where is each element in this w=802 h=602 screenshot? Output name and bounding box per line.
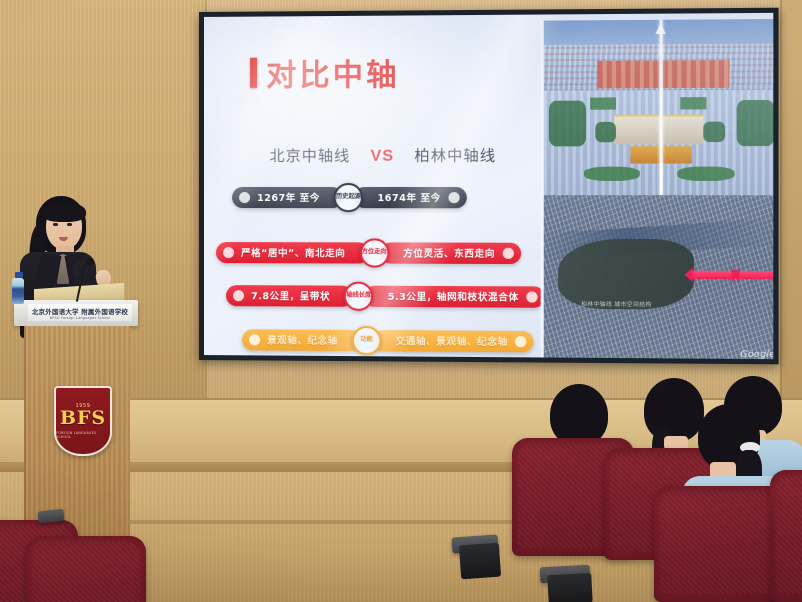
comparison-category-label: 历史起源 [336, 194, 361, 201]
axis-arrow-icon [739, 271, 773, 279]
aerial-trees [595, 122, 616, 143]
heading-right-label: 柏林中轴线 [414, 144, 496, 165]
nameplate-english-text: BFSU Foreign Languages School [50, 316, 110, 320]
google-watermark: Google [740, 350, 773, 359]
crest-subtitle: FOREIGN LANGUAGES SCHOOL [56, 431, 110, 439]
lectern-nameplate: 北京外国语大学 附属外国语学校 BFSU Foreign Languages S… [28, 304, 132, 321]
comparison-row: 1267年 至今 历史起源 1674年 至今 [232, 184, 466, 210]
comparison-left-text: 7.8公里，呈带状 [244, 288, 337, 302]
heading-vs-label: VS [370, 148, 394, 166]
slide-title-text: 对比中轴 [266, 50, 399, 95]
aerial-trees [737, 100, 774, 146]
student-head [550, 384, 608, 446]
comparison-category-label: 功能 [360, 337, 373, 344]
berlin-satellite-map: 柏林中轴线 城市空间结构 Google [541, 195, 774, 359]
lectern-top: 北京外国语大学 附属外国语学校 BFSU Foreign Languages S… [14, 300, 138, 326]
comparison-row-left: 景观轴、纪念轴 [242, 329, 361, 351]
seat-tablet [459, 543, 501, 580]
comparison-category-label: 轴线长度 [346, 292, 371, 299]
comparison-left-text: 严格“居中”、南北走向 [234, 245, 352, 259]
bullet-dot-icon [233, 290, 244, 301]
seat-row-front-left [26, 536, 146, 602]
heading-left-label: 北京中轴线 [269, 145, 350, 166]
aerial-lawn [678, 167, 735, 181]
presenter-eye [67, 223, 72, 226]
comparison-right-text: 1674年 至今 [370, 190, 448, 204]
slide-title: 对比中轴 [250, 50, 399, 95]
comparison-category-badge: 历史起源 [334, 182, 363, 211]
comparison-row-left: 严格“居中”、南北走向 [216, 242, 369, 264]
comparison-category-badge: 轴线长度 [344, 281, 373, 310]
map-tiergarten-park [558, 238, 694, 309]
comparison-left-text: 景观轴、纪念轴 [260, 332, 345, 347]
comparison-right-text: 5.3公里，轴网和枝状混合体 [381, 289, 526, 304]
aerial-trees [548, 101, 585, 147]
wall-panel-right [780, 0, 802, 418]
central-axis-line-icon [660, 20, 663, 195]
comparison-row: 景观轴、纪念轴 功能 交通轴、景观轴、纪念轴 [242, 326, 533, 354]
presentation-slide: 对比中轴 北京中轴线 VS 柏林中轴线 1267年 至今 历史起源 1674年 … [204, 13, 773, 359]
map-caption: 柏林中轴线 城市空间结构 [581, 300, 652, 308]
nameplate-chinese-text: 北京外国语大学 附属外国语学校 [32, 306, 128, 316]
comparison-left-text: 1267年 至今 [250, 190, 327, 204]
aerial-lawn [591, 97, 617, 109]
comparison-right-text: 交通轴、景观轴、纪念轴 [388, 333, 515, 348]
title-accent-bar [250, 58, 257, 88]
bullet-dot-icon [515, 335, 526, 346]
water-bottle [12, 278, 24, 304]
projection-screen: 对比中轴 北京中轴线 VS 柏林中轴线 1267年 至今 历史起源 1674年 … [199, 8, 779, 365]
audience-seat [654, 486, 784, 602]
comparison-row-left: 7.8公里，呈带状 [226, 285, 353, 307]
comparison-row: 7.8公里，呈带状 轴线长度 5.3公里，轴网和枝状混合体 [226, 282, 544, 310]
audience-seat [770, 470, 802, 602]
axis-arrow-icon [692, 271, 732, 279]
bullet-dot-icon [526, 291, 537, 302]
aerial-lawn [680, 97, 706, 109]
school-crest: 1959 BFS FOREIGN LANGUAGES SCHOOL [54, 386, 112, 456]
aerial-trees [704, 121, 725, 142]
bottle-cap [15, 272, 23, 278]
comparison-right-text: 方位灵活、东西走向 [396, 245, 502, 259]
comparison-row: 严格“居中”、南北走向 方位走向 方位灵活、东西走向 [216, 239, 521, 266]
beijing-aerial-photo [541, 19, 774, 195]
comparison-row-right: 1674年 至今 [354, 187, 466, 208]
comparison-row-right: 交通轴、景观轴、纪念轴 [372, 330, 533, 352]
crest-letters: BFS [60, 410, 106, 427]
presenter-eye [53, 223, 58, 226]
comparison-heading: 北京中轴线 VS 柏林中轴线 [246, 144, 520, 166]
aerial-forbidden-city [598, 60, 730, 89]
aerial-lawn [584, 167, 640, 181]
comparison-row-left: 1267年 至今 [232, 187, 343, 208]
presenter-fringe [42, 202, 86, 222]
microphone-icon [86, 258, 94, 266]
seat-tablet [547, 573, 593, 602]
lecture-hall-scene: 对比中轴 北京中轴线 VS 柏林中轴线 1267年 至今 历史起源 1674年 … [0, 0, 802, 602]
comparison-row-right: 5.3公里，轴网和枝状混合体 [364, 285, 544, 307]
bullet-dot-icon [223, 247, 234, 258]
bullet-dot-icon [249, 334, 260, 345]
wall-seam [780, 0, 782, 418]
bullet-dot-icon [239, 192, 250, 203]
comparison-category-label: 方位走向 [362, 249, 387, 256]
bullet-dot-icon [502, 247, 513, 258]
bullet-dot-icon [448, 192, 459, 203]
comparison-row-right: 方位灵活、东西走向 [380, 242, 521, 264]
comparison-category-badge: 方位走向 [359, 238, 388, 267]
comparison-category-badge: 功能 [352, 325, 381, 354]
